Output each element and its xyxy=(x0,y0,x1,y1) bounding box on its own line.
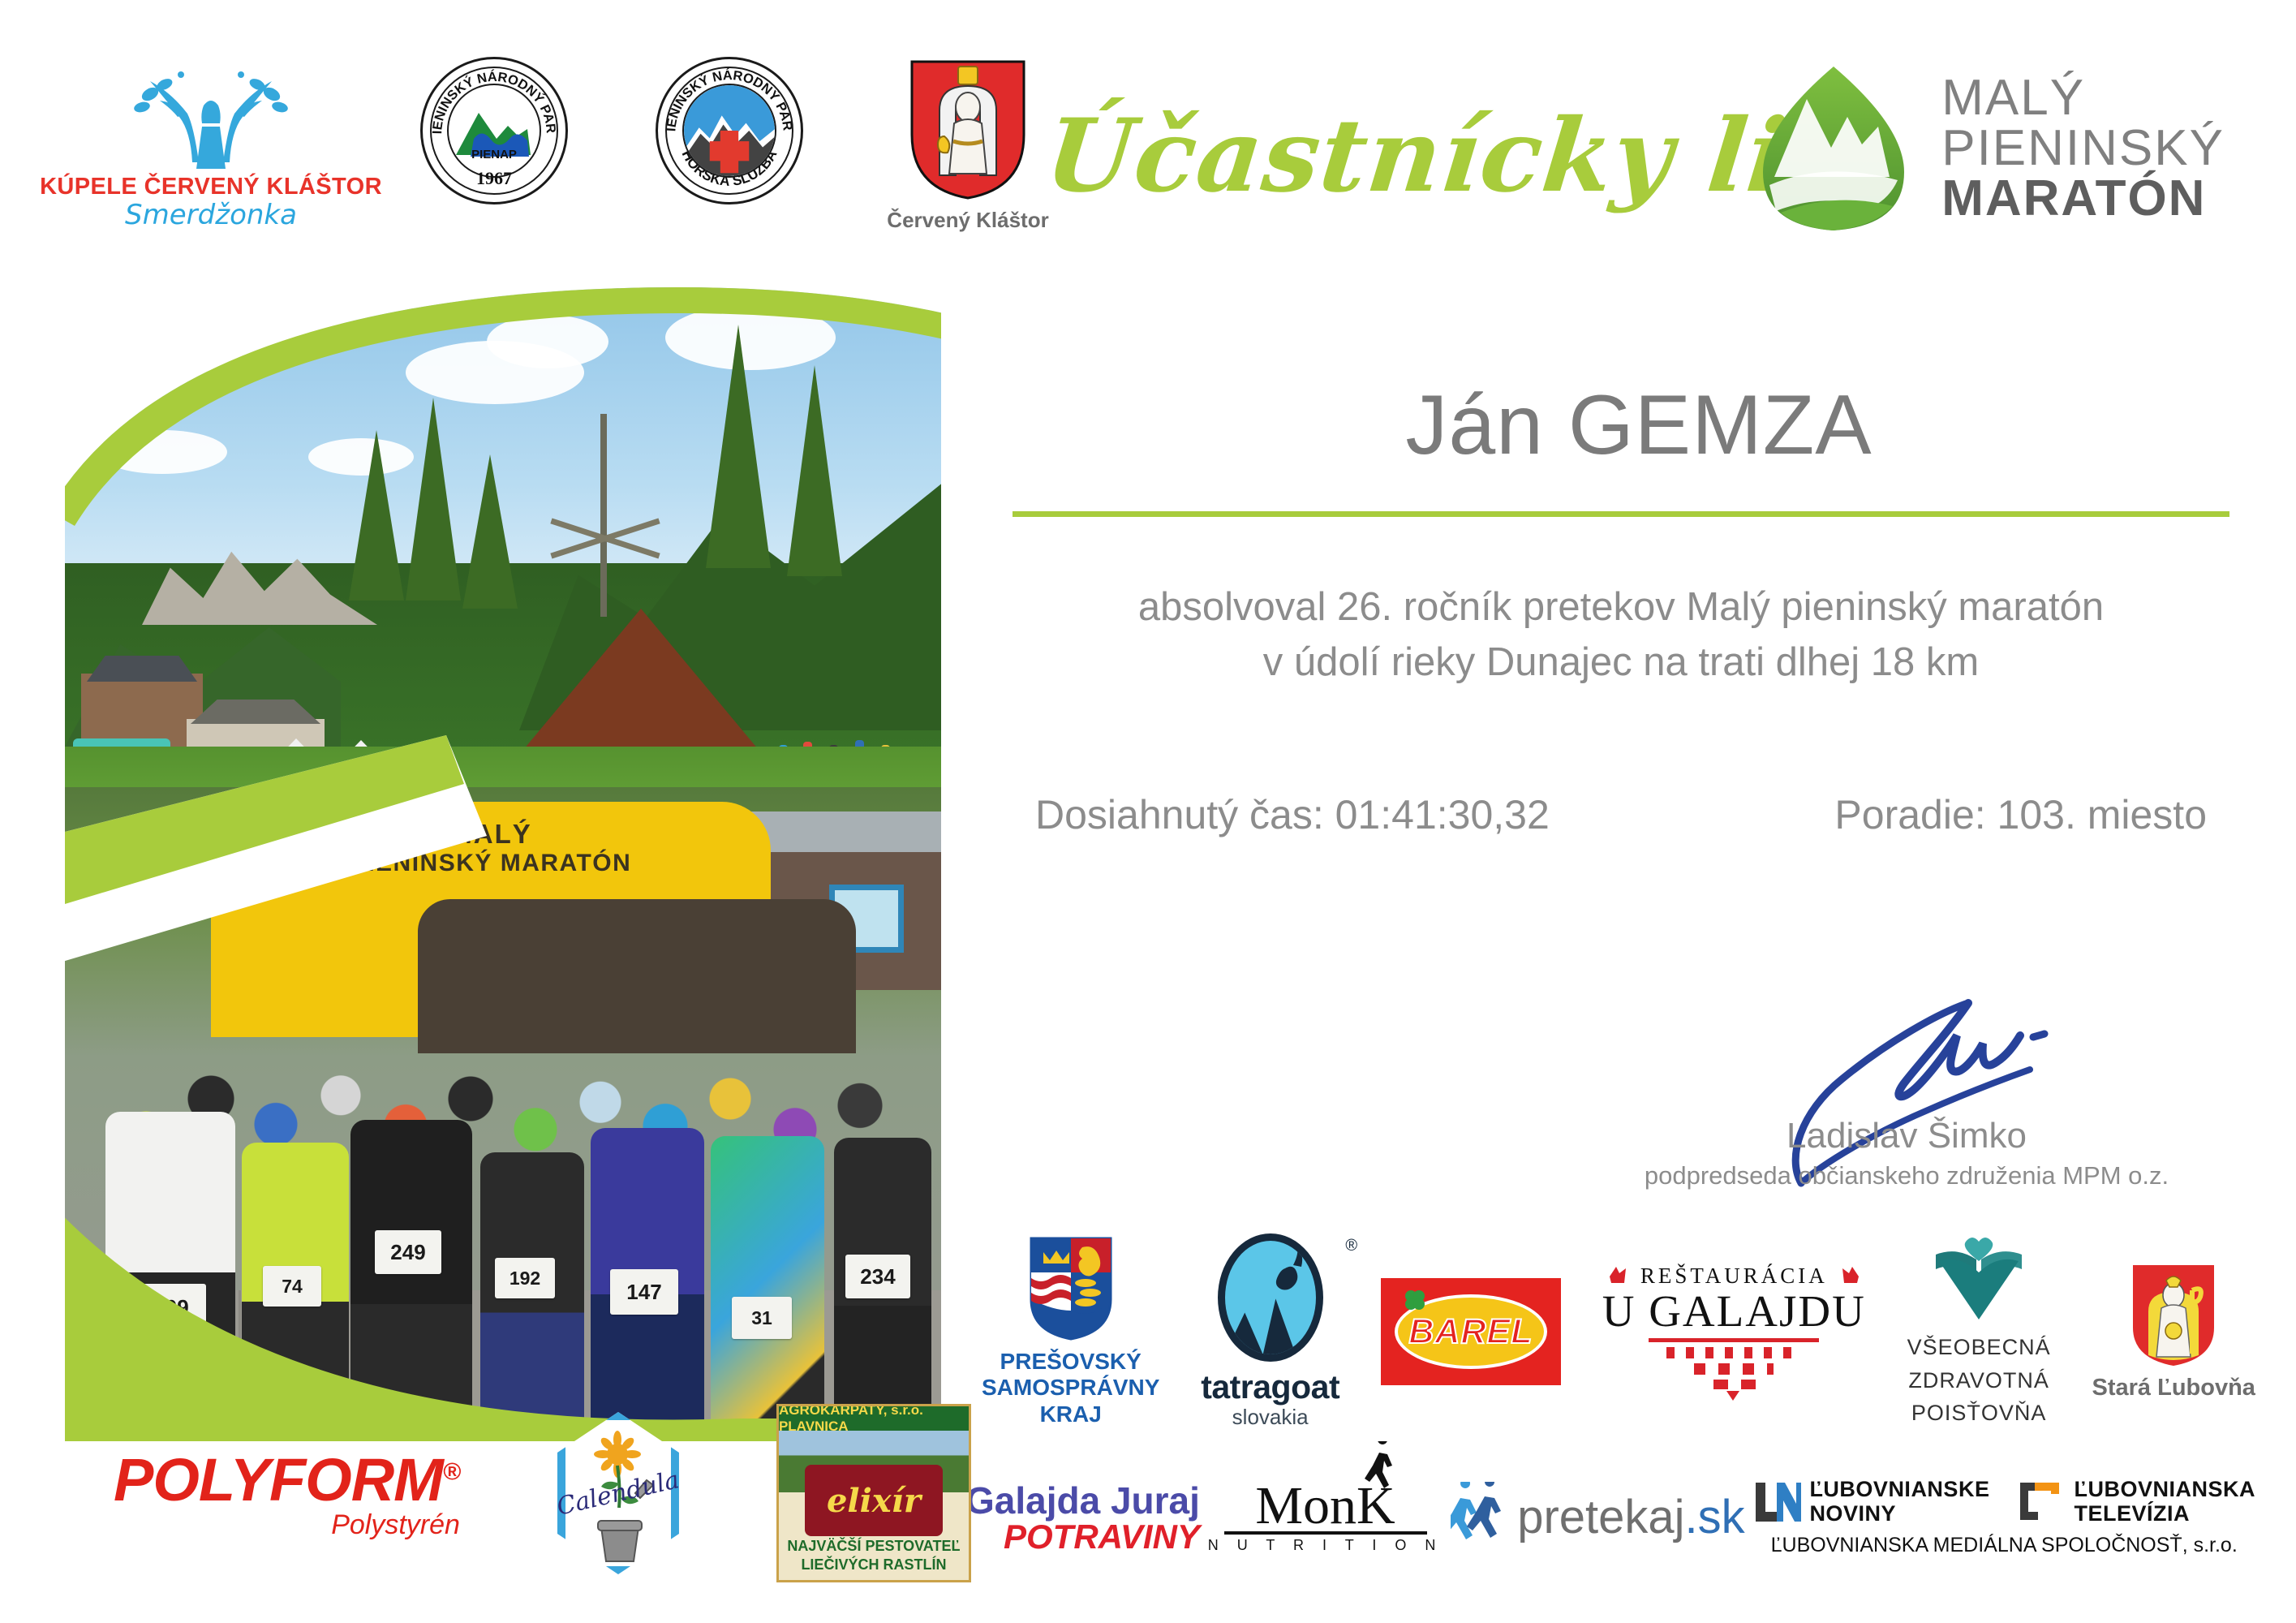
svg-text:PIENAP: PIENAP xyxy=(471,148,517,161)
pienap-seal-icon: PIENINSKÝ NÁRODNÝ PARK PIENAP 1967 xyxy=(420,57,568,204)
vszp-line-1: VŠEOBECNÁ xyxy=(1907,1331,2051,1364)
clover-icon xyxy=(1403,1288,1427,1312)
sponsor-presovsky-kraj: PREŠOVSKÝ SAMOSPRÁVNY KRAJ xyxy=(982,1236,1159,1427)
tatragoat-word: tatragoat xyxy=(1201,1368,1339,1406)
brand-logo: MALÝ PIENINSKÝ MARATÓN xyxy=(1756,63,2225,234)
lubovnianska-medialna-label: ĽUBOVNIANSKA MEDIÁLNA SPOLOČNOSŤ, s.r.o. xyxy=(1771,1534,2238,1557)
monk-sub: N U T R I T I O N xyxy=(1208,1537,1443,1554)
sponsor-row-main: PREŠOVSKÝ SAMOSPRÁVNY KRAJ ® tatragoat s… xyxy=(982,1233,2255,1430)
mountain-leaf-icon xyxy=(1756,63,1911,234)
svg-text:PIENINSKÝ NÁRODNÝ PARK: PIENINSKÝ NÁRODNÝ PARK xyxy=(658,59,795,132)
bib-number: 249 xyxy=(375,1230,441,1274)
participant-name: Ján GEMZA xyxy=(1047,377,2231,474)
signatory-name: Ladislav Šimko xyxy=(1639,1116,2174,1156)
body-line-2: v údolí rieky Dunajec na trati dlhej 18 … xyxy=(1013,635,2229,691)
agrokarpaty-line-2: LIEČIVÝCH RASTLÍN xyxy=(779,1556,969,1574)
vszp-logo-icon xyxy=(1931,1233,2027,1323)
kupele-title: KÚPELE ČERVENÝ KLÁŠTOR xyxy=(40,174,382,200)
sponsor-barel: BAREL xyxy=(1381,1278,1561,1385)
trademark-icon: ® xyxy=(443,1458,460,1485)
bib-number: 147 xyxy=(610,1269,678,1315)
galajda-line-1: Galajda Juraj xyxy=(965,1479,1200,1522)
logo-cerveny-klastor: Červený Kláštor xyxy=(891,57,1045,233)
bib-number: 209 xyxy=(136,1284,206,1331)
certificate-page: KÚPELE ČERVENÝ KLÁŠTOR Smerdžonka PIENIN… xyxy=(0,0,2296,1623)
stara-lubovna-label: Stará Ľubovňa xyxy=(2092,1375,2255,1401)
sponsor-pretekaj-sk: pretekaj.sk xyxy=(1451,1482,1744,1553)
photo-amphitheatre xyxy=(65,268,941,836)
ltv-line-2: TELEVÍZIA xyxy=(2074,1501,2255,1526)
pretekaj-word: pretekaj.sk xyxy=(1517,1490,1744,1544)
photo-race-start: MALÝ PIENINSKÝ MARATÓN 209 74 249 192 14… xyxy=(65,787,941,1461)
agrokarpaty-top: AGROKARPATY, s.r.o. PLAVNICA xyxy=(779,1406,969,1431)
trademark-icon: ® xyxy=(1345,1237,1357,1255)
galajdu-top: REŠTAURÁCIA xyxy=(1640,1264,1828,1289)
ltv-logo-icon xyxy=(2017,1479,2066,1523)
folk-pattern-icon xyxy=(1657,1344,1811,1401)
sponsor-row-bottom: Galajda Juraj POTRAVINY MonK N U T R I T… xyxy=(965,1477,2255,1557)
logo-pieninsky-narodny-park: PIENINSKÝ NÁRODNÝ PARK PIENAP 1967 xyxy=(420,57,568,204)
ln-logo-icon xyxy=(1752,1479,1801,1523)
sponsor-polyform: POLYFORM® Polystyrén xyxy=(114,1445,460,1541)
ltv-line-1: ĽUBOVNIANSKA xyxy=(2074,1477,2255,1501)
ln-line-2: NOVINY xyxy=(1809,1501,1989,1526)
sponsor-lubovnianska-media: ĽUBOVNIANSKE NOVINY ĽUBOVNIANSKA TELEVÍZ… xyxy=(1752,1477,2255,1557)
signature-block: Ladislav Šimko podpredseda občianskeho z… xyxy=(1639,998,2174,1190)
galajdu-main: U GALAJDU xyxy=(1602,1289,1866,1333)
psk-line-1: PREŠOVSKÝ xyxy=(982,1349,1159,1375)
sponsor-vszp: VŠEOBECNÁ ZDRAVOTNÁ POISŤOVŇA xyxy=(1907,1233,2051,1430)
vszp-line-3: POISŤOVŇA xyxy=(1907,1397,2051,1430)
sponsor-calendula: Calendula xyxy=(557,1412,679,1574)
results-row: Dosiahnutý čas: 01:41:30,32 Poradie: 103… xyxy=(1013,791,2229,838)
logo-horska-sluzba: PIENINSKÝ NÁRODNÝ PARK HORSKÁ SLUŽBA xyxy=(656,57,803,204)
partner-logo-strip: KÚPELE ČERVENÝ KLÁŠTOR Smerdžonka PIENIN… xyxy=(89,57,1045,233)
ln-line-1: ĽUBOVNIANSKE xyxy=(1809,1477,1989,1501)
certificate-body: absolvoval 26. ročník pretekov Malý pien… xyxy=(1013,580,2229,690)
brand-line-3: MARATÓN xyxy=(1941,174,2225,224)
result-time: Dosiahnutý čas: 01:41:30,32 xyxy=(1035,791,1550,838)
svg-text:HORSKÁ SLUŽBA: HORSKÁ SLUŽBA xyxy=(679,147,780,189)
sponsor-stara-lubovna: Stará Ľubovňa xyxy=(2092,1263,2255,1401)
brand-line-2: PIENINSKÝ xyxy=(1941,123,2225,174)
water-angel-icon xyxy=(118,57,304,170)
stara-lubovna-coat-of-arms-icon xyxy=(2130,1263,2216,1368)
barel-word: BAREL xyxy=(1408,1312,1533,1352)
sponsor-tatragoat: ® tatragoat slovakia xyxy=(1201,1233,1339,1430)
goat-mountain-icon xyxy=(1218,1233,1323,1362)
cerveny-klastor-label: Červený Kláštor xyxy=(887,208,1048,233)
psk-line-2: SAMOSPRÁVNY xyxy=(982,1375,1159,1401)
bib-number: 31 xyxy=(732,1297,792,1339)
coat-of-arms-icon xyxy=(907,57,1029,201)
result-place: Poradie: 103. miesto xyxy=(1834,791,2207,838)
vszp-line-2: ZDRAVOTNÁ xyxy=(1907,1364,2051,1397)
pretekaj-name: pretekaj xyxy=(1517,1491,1684,1543)
pretekaj-tld: .sk xyxy=(1685,1491,1745,1543)
monk-word: MonK xyxy=(1255,1480,1395,1531)
body-line-1: absolvoval 26. ročník pretekov Malý pien… xyxy=(1013,580,2229,635)
kupele-subtitle: Smerdžonka xyxy=(125,199,297,231)
horska-sluzba-seal-icon: PIENINSKÝ NÁRODNÝ PARK HORSKÁ SLUŽBA xyxy=(656,57,803,204)
signatory-role: podpredseda občianskeho združenia MPM o.… xyxy=(1639,1161,2174,1190)
logo-kupele-cerveny-klastor: KÚPELE ČERVENÝ KLÁŠTOR Smerdžonka xyxy=(89,57,333,231)
arch-text: MALÝ PIENINSKÝ MARATÓN xyxy=(211,820,771,877)
sponsor-u-galajdu: REŠTAURÁCIA U GALAJDU xyxy=(1602,1264,1866,1401)
accent-divider xyxy=(1013,511,2229,517)
pienap-emblem: PIENAP xyxy=(447,84,541,178)
folk-ornament-icon xyxy=(1608,1265,1629,1286)
brand-line-1: MALÝ xyxy=(1941,73,2225,123)
mountain-rescue-emblem xyxy=(682,84,776,178)
folk-ornament-icon xyxy=(1839,1265,1860,1286)
svg-text:PIENINSKÝ NÁRODNÝ PARK: PIENINSKÝ NÁRODNÝ PARK xyxy=(423,59,558,135)
bib-number: 192 xyxy=(495,1258,555,1298)
agrokarpaty-badge: elixír xyxy=(827,1482,921,1520)
arch-line-1: MALÝ xyxy=(211,820,771,850)
calendula-badge-icon: Calendula xyxy=(557,1412,679,1574)
sponsor-agrokarpaty: AGROKARPATY, s.r.o. PLAVNICA elixír NAJV… xyxy=(776,1404,971,1582)
psk-coat-of-arms-icon xyxy=(1029,1236,1113,1341)
agrokarpaty-line-1: NAJVÄČŠÍ PESTOVATEĽ xyxy=(779,1537,969,1556)
psk-line-3: KRAJ xyxy=(982,1401,1159,1427)
polyform-word: POLYFORM® xyxy=(114,1445,460,1514)
photo-panel: MALÝ PIENINSKÝ MARATÓN 209 74 249 192 14… xyxy=(65,268,941,1461)
tatragoat-sub: slovakia xyxy=(1232,1405,1309,1430)
pienap-year: 1967 xyxy=(423,168,565,189)
galajda-line-2: POTRAVINY xyxy=(1004,1518,1200,1556)
polyform-name: POLYFORM xyxy=(114,1446,443,1513)
sponsor-galajda-juraj: Galajda Juraj POTRAVINY xyxy=(965,1479,1200,1556)
arch-line-2: PIENINSKÝ MARATÓN xyxy=(211,850,771,877)
sponsor-monk-nutrition: MonK N U T R I T I O N xyxy=(1208,1480,1443,1554)
sponsor-row-left: POLYFORM® Polystyrén xyxy=(114,1404,971,1582)
bib-number: 234 xyxy=(845,1255,910,1298)
two-runners-icon xyxy=(1451,1482,1506,1553)
bib-number: 74 xyxy=(263,1266,321,1307)
